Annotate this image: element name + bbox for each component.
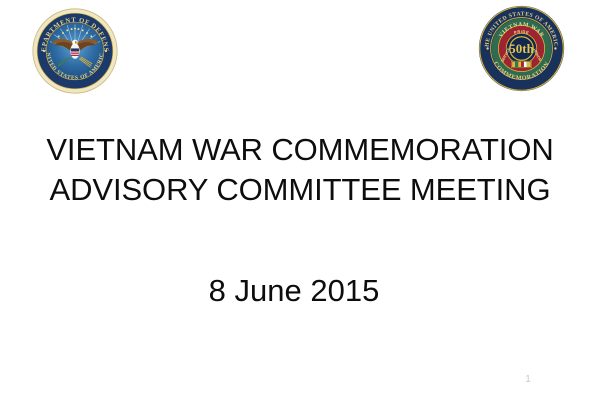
page-number: 1 — [508, 374, 548, 386]
meeting-date: 8 June 2015 — [0, 272, 588, 310]
vietnam-war-commemoration-seal-icon: 50th PRIDE SERVICE HONOR VIETNAM WAR — [478, 5, 565, 92]
title-line-2: ADVISORY COMMITTEE MEETING — [0, 170, 600, 210]
dod-seal-icon: DEPARTMENT OF DEFENSE UNITED STATES OF A… — [32, 8, 118, 94]
slide-title: VIETNAM WAR COMMEMORATION ADVISORY COMMI… — [0, 130, 600, 210]
vietnam-seal-center-text: 50th — [509, 41, 534, 56]
slide-canvas: DEPARTMENT OF DEFENSE UNITED STATES OF A… — [0, 0, 600, 400]
title-line-1: VIETNAM WAR COMMEMORATION — [0, 130, 600, 170]
slide-subtitle: 8 June 2015 — [0, 272, 588, 310]
